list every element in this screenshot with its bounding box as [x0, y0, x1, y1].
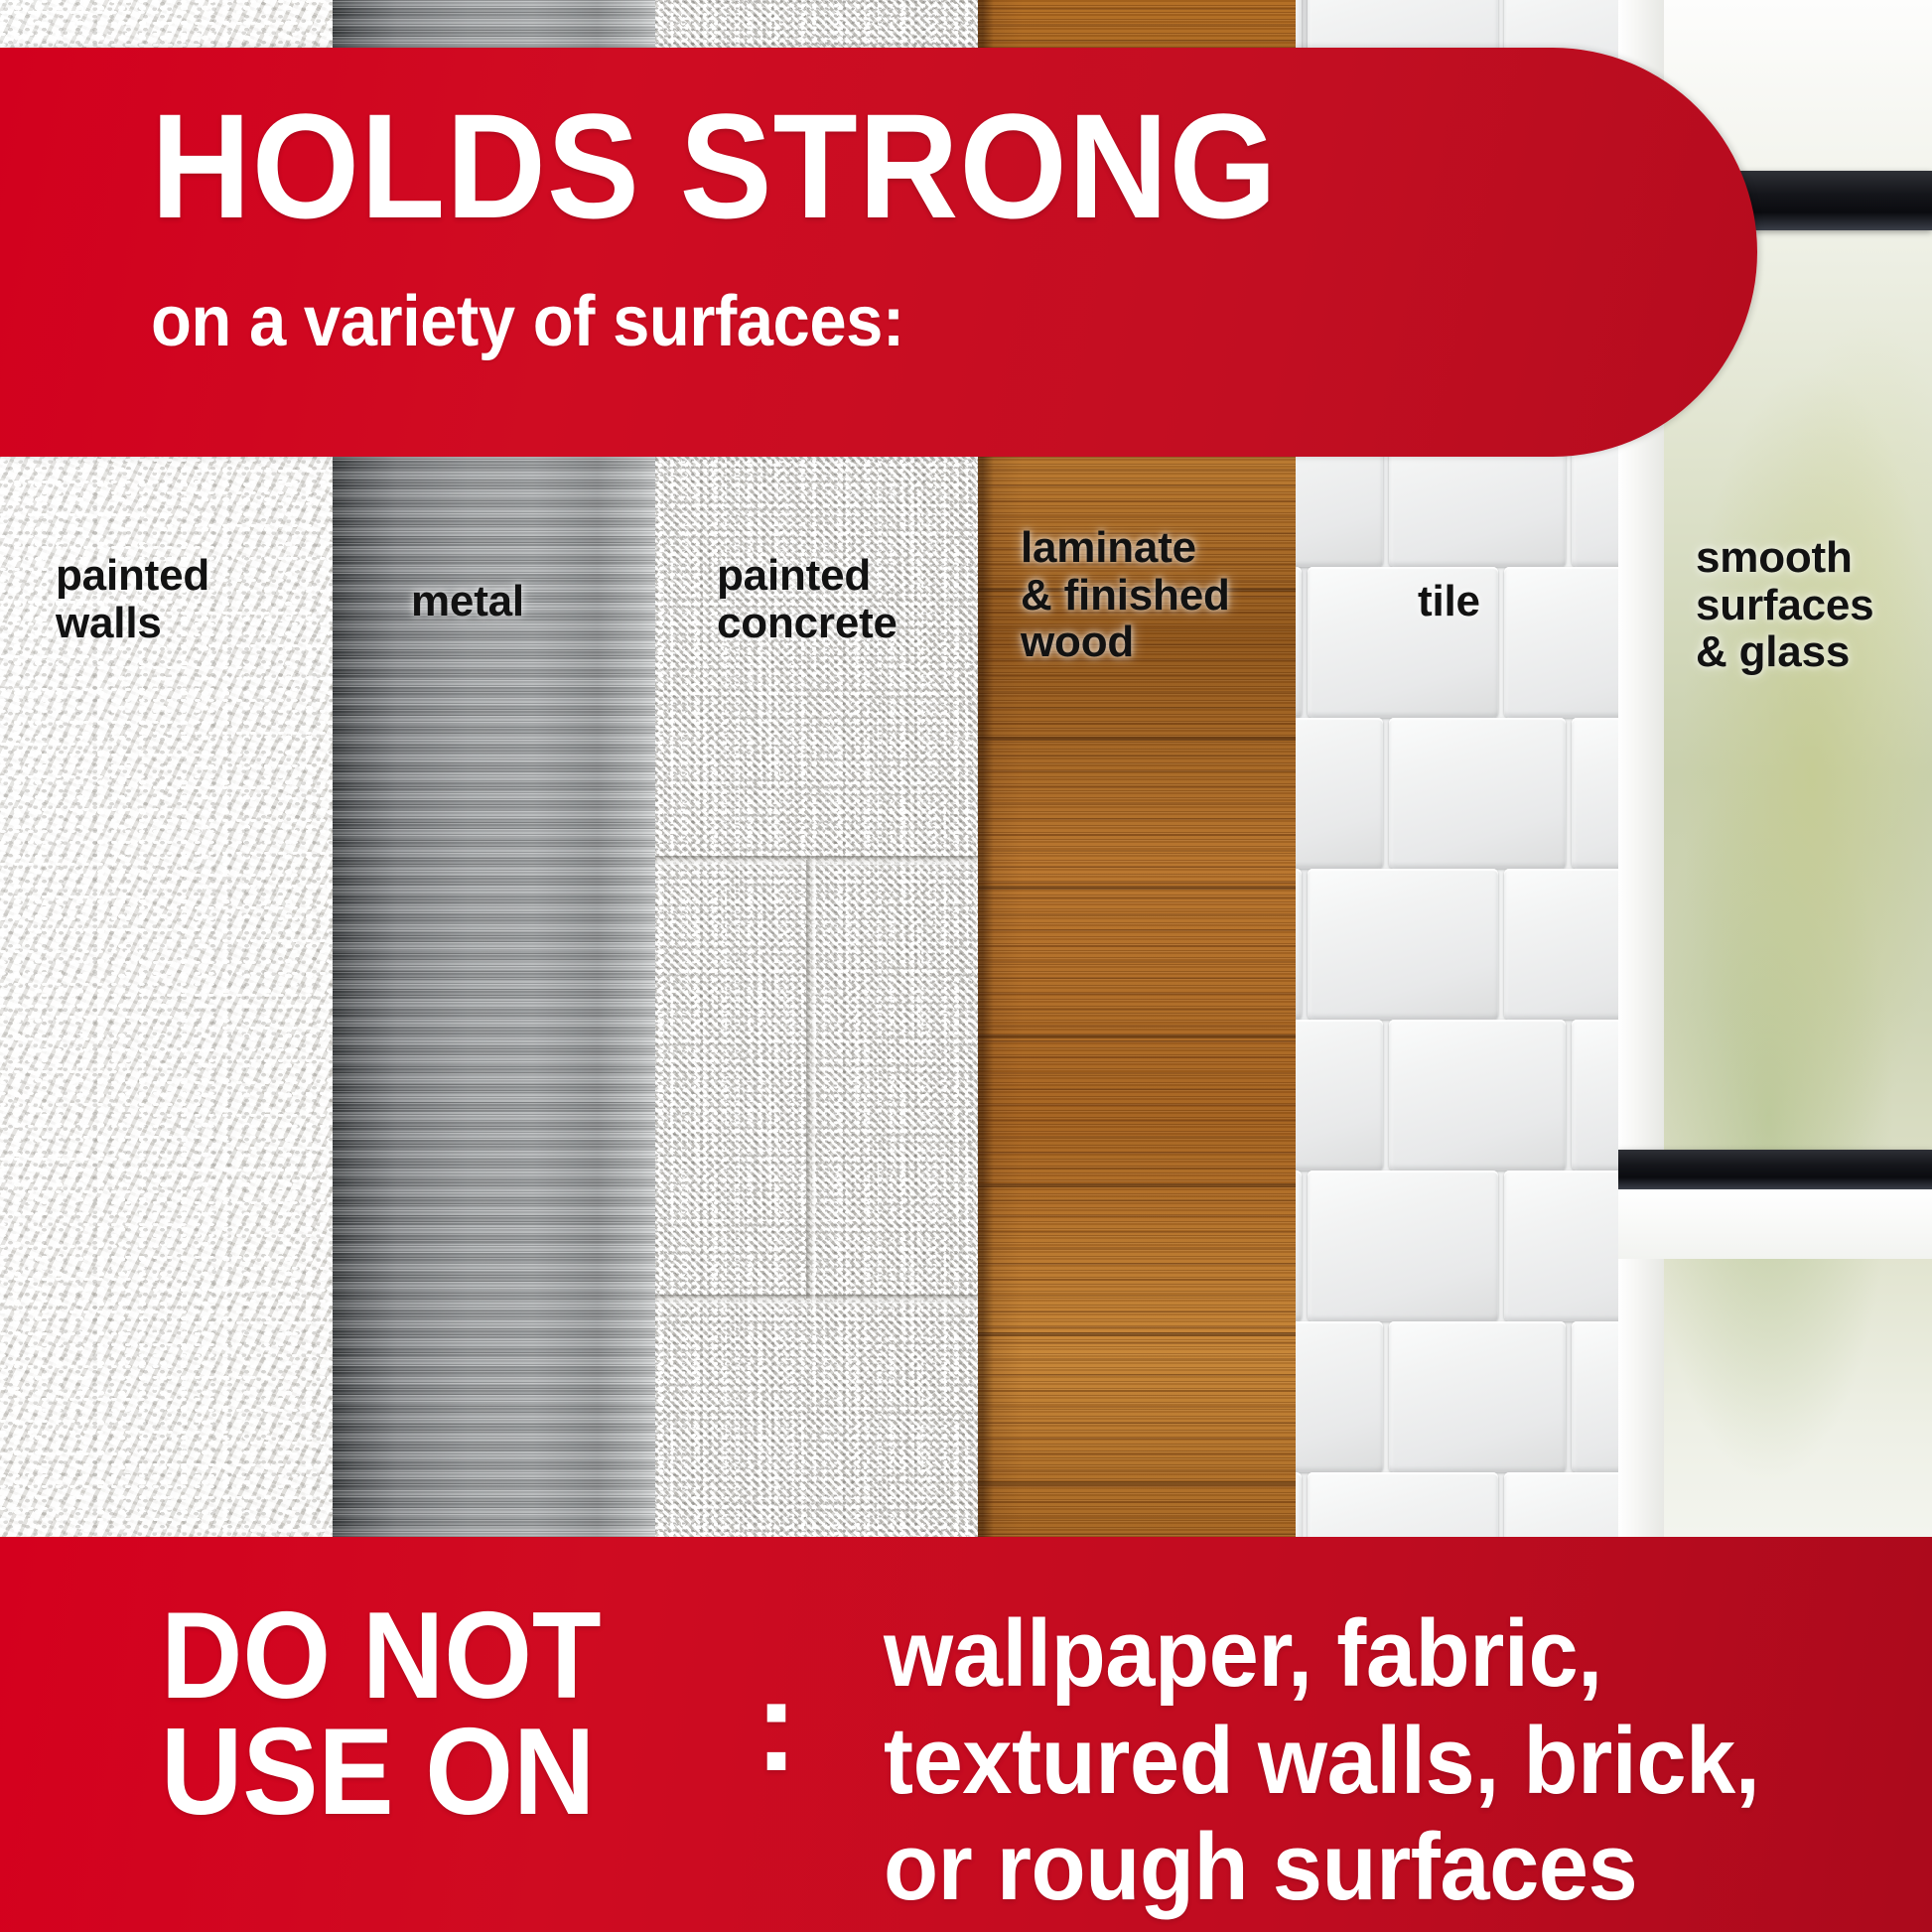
tile-course — [1296, 1168, 1618, 1318]
subway-tile — [1308, 869, 1498, 1020]
subway-tile — [1504, 869, 1618, 1020]
subway-tile — [1296, 1321, 1383, 1472]
window-sill — [1618, 1189, 1932, 1259]
tile-course — [1296, 715, 1618, 866]
warning-heading-line2: USE ON — [161, 1704, 595, 1841]
surface-label-tile: tile — [1418, 578, 1480, 625]
subway-tile — [1572, 1321, 1618, 1472]
surface-label-painted-walls: painted walls — [56, 552, 209, 646]
warning-heading: DO NOTUSE ON — [161, 1598, 602, 1830]
subway-tile — [1572, 1020, 1618, 1171]
concrete-mortar-joint-horizontal — [655, 856, 978, 865]
subway-tile — [1504, 567, 1618, 718]
window-frame-rail-bottom — [1618, 1150, 1932, 1189]
warning-surface-list: wallpaper, fabric, textured walls, brick… — [884, 1600, 1759, 1921]
surface-label-metal: metal — [411, 578, 524, 625]
concrete-mortar-joint-horizontal — [655, 1295, 978, 1304]
subway-tile — [1296, 1171, 1302, 1321]
subway-tile — [1296, 567, 1302, 718]
subway-tile — [1389, 718, 1566, 869]
subway-tile — [1296, 1020, 1383, 1171]
subway-tile — [1296, 869, 1302, 1020]
subway-tile — [1572, 718, 1618, 869]
page-subtitle: on a variety of surfaces: — [151, 281, 904, 362]
tile-course — [1296, 866, 1618, 1017]
subway-tile — [1308, 1171, 1498, 1321]
subway-tile — [1504, 1171, 1618, 1321]
page-title: HOLDS STRONG — [151, 97, 1278, 236]
subway-tile — [1389, 1020, 1566, 1171]
surface-label-painted-concrete: painted concrete — [717, 552, 897, 646]
warning-colon: : — [755, 1660, 798, 1791]
subway-tile — [1296, 718, 1383, 869]
subway-tile — [1389, 1321, 1566, 1472]
concrete-mortar-joint-vertical — [806, 860, 815, 1299]
tile-course — [1296, 1318, 1618, 1469]
tile-course — [1296, 1017, 1618, 1168]
surface-label-smooth-glass: smooth surfaces & glass — [1696, 534, 1873, 676]
infographic-canvas: HOLDS STRONG on a variety of surfaces: p… — [0, 0, 1932, 1932]
surface-label-laminate-wood: laminate & finished wood — [1021, 524, 1230, 666]
